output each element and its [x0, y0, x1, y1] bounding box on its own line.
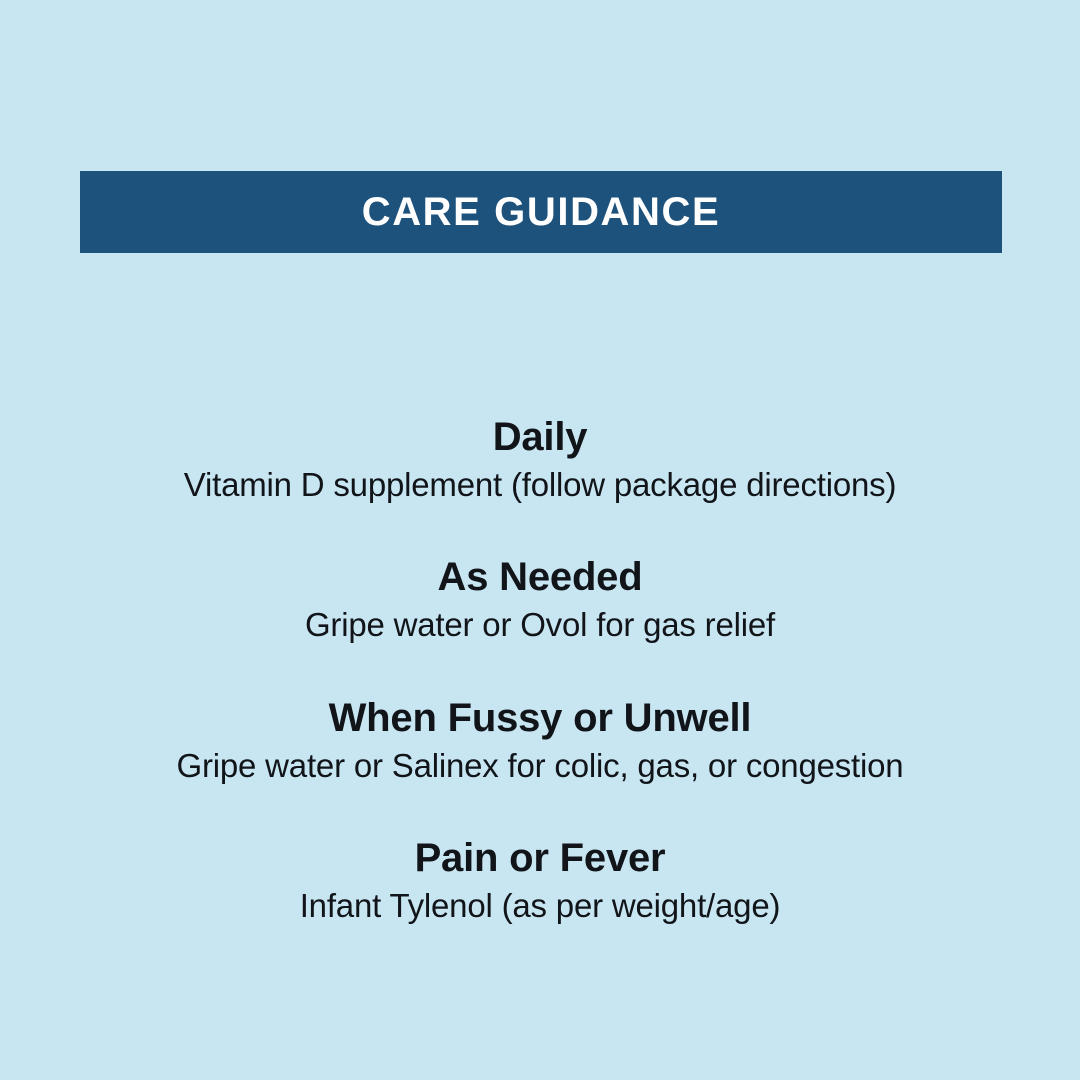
page-title: CARE GUIDANCE	[362, 192, 721, 232]
section-heading: Daily	[0, 414, 1080, 461]
section-detail: Gripe water or Ovol for gas relief	[0, 605, 1080, 645]
header-banner: CARE GUIDANCE	[80, 171, 1002, 253]
guidance-section-when-fussy-or-unwell: When Fussy or Unwell Gripe water or Sali…	[0, 695, 1080, 785]
section-heading: Pain or Fever	[0, 835, 1080, 882]
guidance-section-list: Daily Vitamin D supplement (follow packa…	[0, 414, 1080, 926]
section-detail: Vitamin D supplement (follow package dir…	[0, 465, 1080, 505]
care-guidance-card: CARE GUIDANCE Daily Vitamin D supplement…	[0, 0, 1080, 1080]
section-heading: As Needed	[0, 554, 1080, 601]
section-heading: When Fussy or Unwell	[0, 695, 1080, 742]
section-detail: Gripe water or Salinex for colic, gas, o…	[0, 746, 1080, 786]
guidance-section-pain-or-fever: Pain or Fever Infant Tylenol (as per wei…	[0, 835, 1080, 925]
section-detail: Infant Tylenol (as per weight/age)	[0, 886, 1080, 926]
guidance-section-daily: Daily Vitamin D supplement (follow packa…	[0, 414, 1080, 504]
guidance-section-as-needed: As Needed Gripe water or Ovol for gas re…	[0, 554, 1080, 644]
